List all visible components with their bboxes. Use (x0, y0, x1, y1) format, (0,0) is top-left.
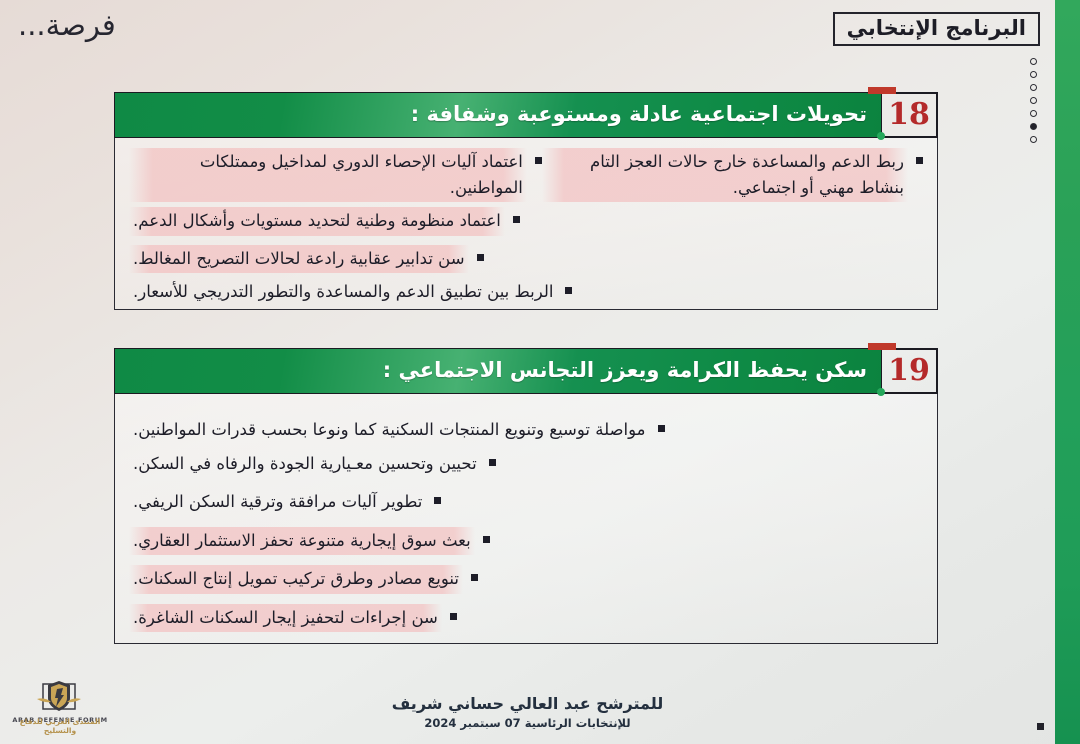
red-accent-bar (868, 87, 896, 94)
bullet-text: اعتماد آليات الإحصاء الدوري لمداخيل وممت… (129, 148, 527, 202)
bullet-square-icon (658, 425, 665, 432)
section-19-title: سكن يحفظ الكرامة ويعزز التجانس الاجتماعي… (383, 358, 867, 382)
section-19-title-bar: سكن يحفظ الكرامة ويعزز التجانس الاجتماعي… (114, 348, 882, 394)
footer-candidate-line: للمترشح عبد العالي حساني شريف (0, 694, 1055, 713)
section-18-full-bullet-list: سن تدابير عقابية رادعة لحالات التصريح ال… (129, 245, 923, 307)
section-18-number-box: 18 (882, 92, 938, 138)
section-18-left-bullet-list: ربط الدعم والمساعدة خارج حالات العجز الت… (542, 148, 923, 202)
section-19-bullet-list: مواصلة توسيع وتنويع المنتجات السكنية كما… (129, 404, 923, 632)
list-item: اعتماد منظومة وطنية لتحديد مستويات وأشكا… (129, 207, 542, 236)
progress-dot-6-active[interactable] (1030, 123, 1037, 130)
green-dot-marker (877, 388, 885, 396)
bullet-text: بعث سوق إيجارية متنوعة تحفز الاستثمار ال… (129, 527, 475, 556)
page-end-marker (1037, 723, 1044, 730)
progress-dot-5[interactable] (1030, 110, 1037, 117)
bullet-square-icon (535, 157, 542, 164)
list-item: سن إجراءات لتحفيز إيجار السكنات الشاغرة. (129, 604, 923, 633)
section-18-left-column: ربط الدعم والمساعدة خارج حالات العجز الت… (542, 148, 923, 241)
watermark-logo: ARAB DEFENSE FORUM المنتدى العربي للدفاع… (8, 678, 112, 738)
bullet-text: ربط الدعم والمساعدة خارج حالات العجز الت… (542, 148, 908, 202)
list-item: بعث سوق إيجارية متنوعة تحفز الاستثمار ال… (129, 527, 923, 556)
list-item: ربط الدعم والمساعدة خارج حالات العجز الت… (542, 148, 923, 202)
section-18-number: 18 (888, 100, 930, 130)
progress-dot-7[interactable] (1030, 136, 1037, 143)
list-item: اعتماد آليات الإحصاء الدوري لمداخيل وممت… (129, 148, 542, 202)
footer-election-line: للإنتخابات الرئاسية 07 سبتمبر 2024 (0, 716, 1055, 730)
bullet-square-icon (916, 157, 923, 164)
bullet-square-icon (489, 459, 496, 466)
section-19-header: سكن يحفظ الكرامة ويعزز التجانس الاجتماعي… (114, 348, 938, 394)
progress-dot-2[interactable] (1030, 71, 1037, 78)
bullet-text: تنويع مصادر وطرق تركيب تمويل إنتاج السكن… (129, 565, 463, 594)
list-item: مواصلة توسيع وتنويع المنتجات السكنية كما… (129, 416, 923, 445)
progress-dot-3[interactable] (1030, 84, 1037, 91)
bullet-square-icon (483, 536, 490, 543)
bullet-square-icon (471, 574, 478, 581)
bullet-square-icon (513, 216, 520, 223)
section-18-two-column-row: اعتماد آليات الإحصاء الدوري لمداخيل وممت… (129, 148, 923, 241)
bullet-text: تطوير آليات مرافقة وترقية السكن الريفي. (129, 488, 426, 517)
shield-eagle-icon (34, 678, 84, 718)
progress-dot-1[interactable] (1030, 58, 1037, 65)
list-item: الربط بين تطبيق الدعم والمساعدة والتطور … (129, 278, 923, 307)
bullet-square-icon (477, 254, 484, 261)
red-accent-bar (868, 343, 896, 350)
section-18-title-bar: تحويلات اجتماعية عادلة ومستوعبة وشفافة : (114, 92, 882, 138)
section-19-number-box: 19 (882, 348, 938, 394)
bullet-text: تحيين وتحسين معـيارية الجودة والرفاه في … (129, 450, 481, 479)
list-item: تحيين وتحسين معـيارية الجودة والرفاه في … (129, 450, 923, 479)
bullet-text: اعتماد منظومة وطنية لتحديد مستويات وأشكا… (129, 207, 505, 236)
bullet-square-icon (450, 613, 457, 620)
section-18-title: تحويلات اجتماعية عادلة ومستوعبة وشفافة : (411, 102, 867, 126)
bullet-square-icon (434, 497, 441, 504)
section-18: تحويلات اجتماعية عادلة ومستوعبة وشفافة :… (114, 92, 938, 310)
list-item: سن تدابير عقابية رادعة لحالات التصريح ال… (129, 245, 923, 274)
section-19: سكن يحفظ الكرامة ويعزز التجانس الاجتماعي… (114, 348, 938, 644)
right-green-band (1055, 0, 1080, 744)
page-title: البرنامج الإنتخابي (847, 16, 1026, 40)
section-19-body: مواصلة توسيع وتنويع المنتجات السكنية كما… (114, 394, 938, 644)
progress-dot-4[interactable] (1030, 97, 1037, 104)
bullet-text: سن تدابير عقابية رادعة لحالات التصريح ال… (129, 245, 469, 274)
green-dot-marker (877, 132, 885, 140)
bullet-text: الربط بين تطبيق الدعم والمساعدة والتطور … (129, 278, 557, 307)
bullet-text: مواصلة توسيع وتنويع المنتجات السكنية كما… (129, 416, 650, 445)
section-18-header: تحويلات اجتماعية عادلة ومستوعبة وشفافة :… (114, 92, 938, 138)
section-18-right-column: اعتماد آليات الإحصاء الدوري لمداخيل وممت… (129, 148, 542, 241)
bullet-text: سن إجراءات لتحفيز إيجار السكنات الشاغرة. (129, 604, 442, 633)
list-item: تطوير آليات مرافقة وترقية السكن الريفي. (129, 488, 923, 517)
footer: للمترشح عبد العالي حساني شريف للإنتخابات… (0, 694, 1055, 730)
slide-canvas: فرصة... البرنامج الإنتخابي تحويلات اجتما… (0, 0, 1080, 744)
section-18-body: اعتماد آليات الإحصاء الدوري لمداخيل وممت… (114, 138, 938, 310)
list-item: تنويع مصادر وطرق تركيب تمويل إنتاج السكن… (129, 565, 923, 594)
section-19-number: 19 (888, 356, 930, 386)
page-title-box: البرنامج الإنتخابي (833, 12, 1040, 46)
slide-progress-dots[interactable] (1030, 58, 1037, 143)
bullet-square-icon (565, 287, 572, 294)
section-18-right-bullet-list: اعتماد آليات الإحصاء الدوري لمداخيل وممت… (129, 148, 542, 236)
header-left-text: فرصة... (18, 8, 116, 42)
watermark-arabic-text: المنتدى العربي للدفاع والتسليح (8, 717, 112, 735)
